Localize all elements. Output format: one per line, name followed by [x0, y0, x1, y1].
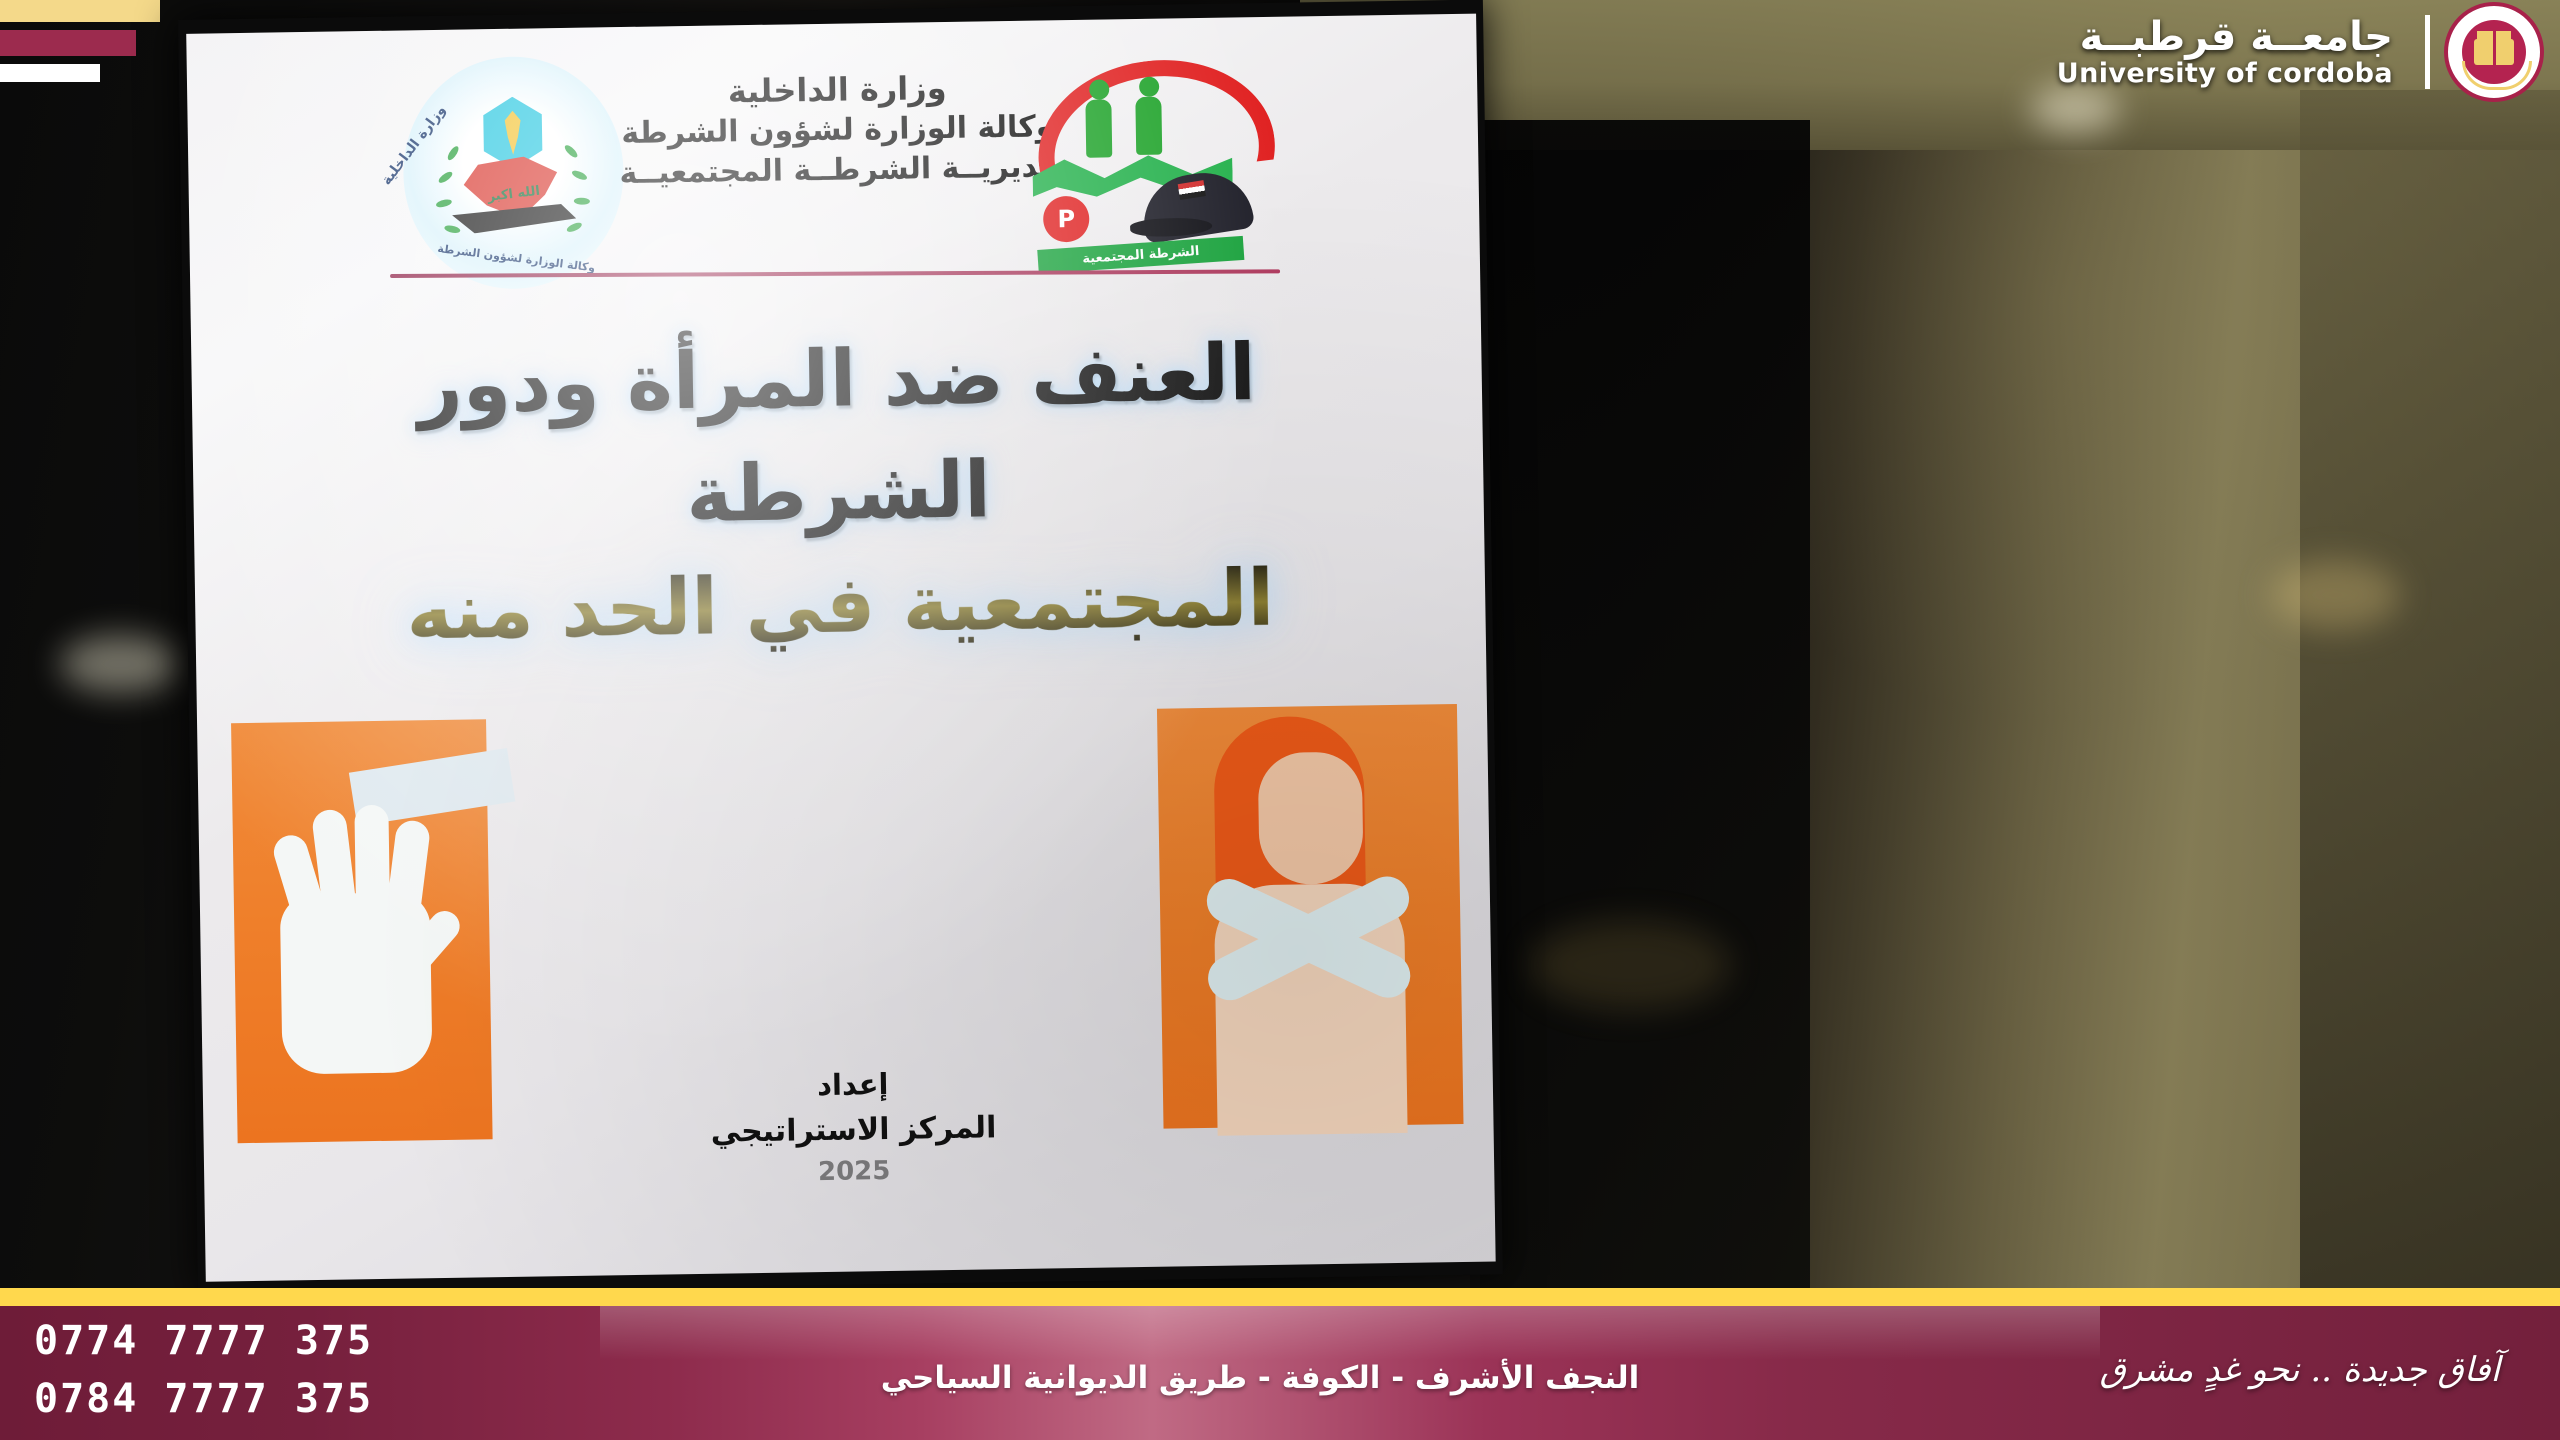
community-police-logo: P الشرطة المجتمعية	[1027, 53, 1260, 267]
brand-text-block: جامعــة قرطبــة University of cordoba	[2033, 12, 2411, 93]
banner-address: النجف الأشرف - الكوفة - طريق الديوانية ا…	[700, 1360, 1820, 1396]
hand-shape	[258, 774, 453, 1077]
contact-banner: 0774 7777 375 0784 7777 375 النجف الأشرف…	[0, 1288, 2560, 1440]
wall-dark-panel	[1480, 120, 1810, 1290]
slide-title: العنف ضد المرأة ودور الشرطة المجتمعية في…	[251, 315, 1426, 673]
university-brand-bar: جامعــة قرطبــة University of cordoba	[2033, 0, 2560, 104]
screenshot-stage: وزارة الداخلية وكالة الوزارة لشؤون الشرط…	[0, 0, 2560, 1440]
corner-mark-maroon	[0, 30, 136, 56]
palm-shape	[280, 892, 433, 1074]
laurel-leaf-icon	[566, 221, 583, 233]
brand-name-english: University of cordoba	[2057, 58, 2393, 89]
wall-side-panel	[2300, 90, 2560, 1290]
finger-shape	[385, 819, 431, 920]
laurel-leaf-icon	[444, 224, 461, 235]
corner-mark-gold	[0, 0, 160, 22]
phone-number-1: 0774 7777 375	[34, 1312, 373, 1370]
face-shape	[1258, 751, 1364, 885]
brand-separator	[2425, 15, 2430, 89]
laurel-leaf-icon	[437, 170, 454, 184]
banner-slogan: آفاق جديدة .. نحو غدٍ مشرق	[2100, 1350, 2500, 1390]
emblem-ring-text-bottom: وكالة الوزارة لشؤون الشرطة	[437, 242, 596, 275]
emblem-ring-text-top: وزارة الداخلية	[379, 102, 449, 188]
banner-gloss	[600, 1306, 2100, 1360]
slide-credits: إعداد المركز الاستراتيجي 2025	[533, 1059, 1175, 1197]
finger-shape	[354, 805, 390, 918]
title-line-2: المجتمعية في الحد منه	[254, 541, 1426, 672]
laurel-wreath-icon	[2462, 61, 2532, 90]
presentation-slide: وزارة الداخلية وكالة الوزارة لشؤون الشرط…	[186, 14, 1495, 1282]
laurel-leaf-icon	[435, 199, 452, 208]
brand-name-arabic: جامعــة قرطبــة	[2080, 16, 2393, 58]
figure-body-icon	[1135, 97, 1162, 155]
title-line-1: العنف ضد المرأة ودور الشرطة	[251, 315, 1424, 560]
banner-phone-numbers: 0774 7777 375 0784 7777 375	[34, 1312, 373, 1428]
banner-accent-line	[0, 1288, 2560, 1306]
figure-body-icon	[1085, 99, 1112, 157]
laurel-leaf-icon	[574, 197, 591, 206]
stop-hand-illustration	[231, 719, 493, 1143]
corner-mark-white	[0, 64, 100, 82]
laurel-leaf-icon	[445, 145, 461, 162]
woman-crossed-arms-illustration	[1157, 704, 1464, 1129]
projection-screen: وزارة الداخلية وكالة الوزارة لشؤون الشرط…	[178, 0, 1503, 1295]
cordoba-university-seal-icon	[2444, 2, 2544, 102]
phone-number-2: 0784 7777 375	[34, 1370, 373, 1428]
police-badge-icon: P	[1043, 196, 1090, 243]
